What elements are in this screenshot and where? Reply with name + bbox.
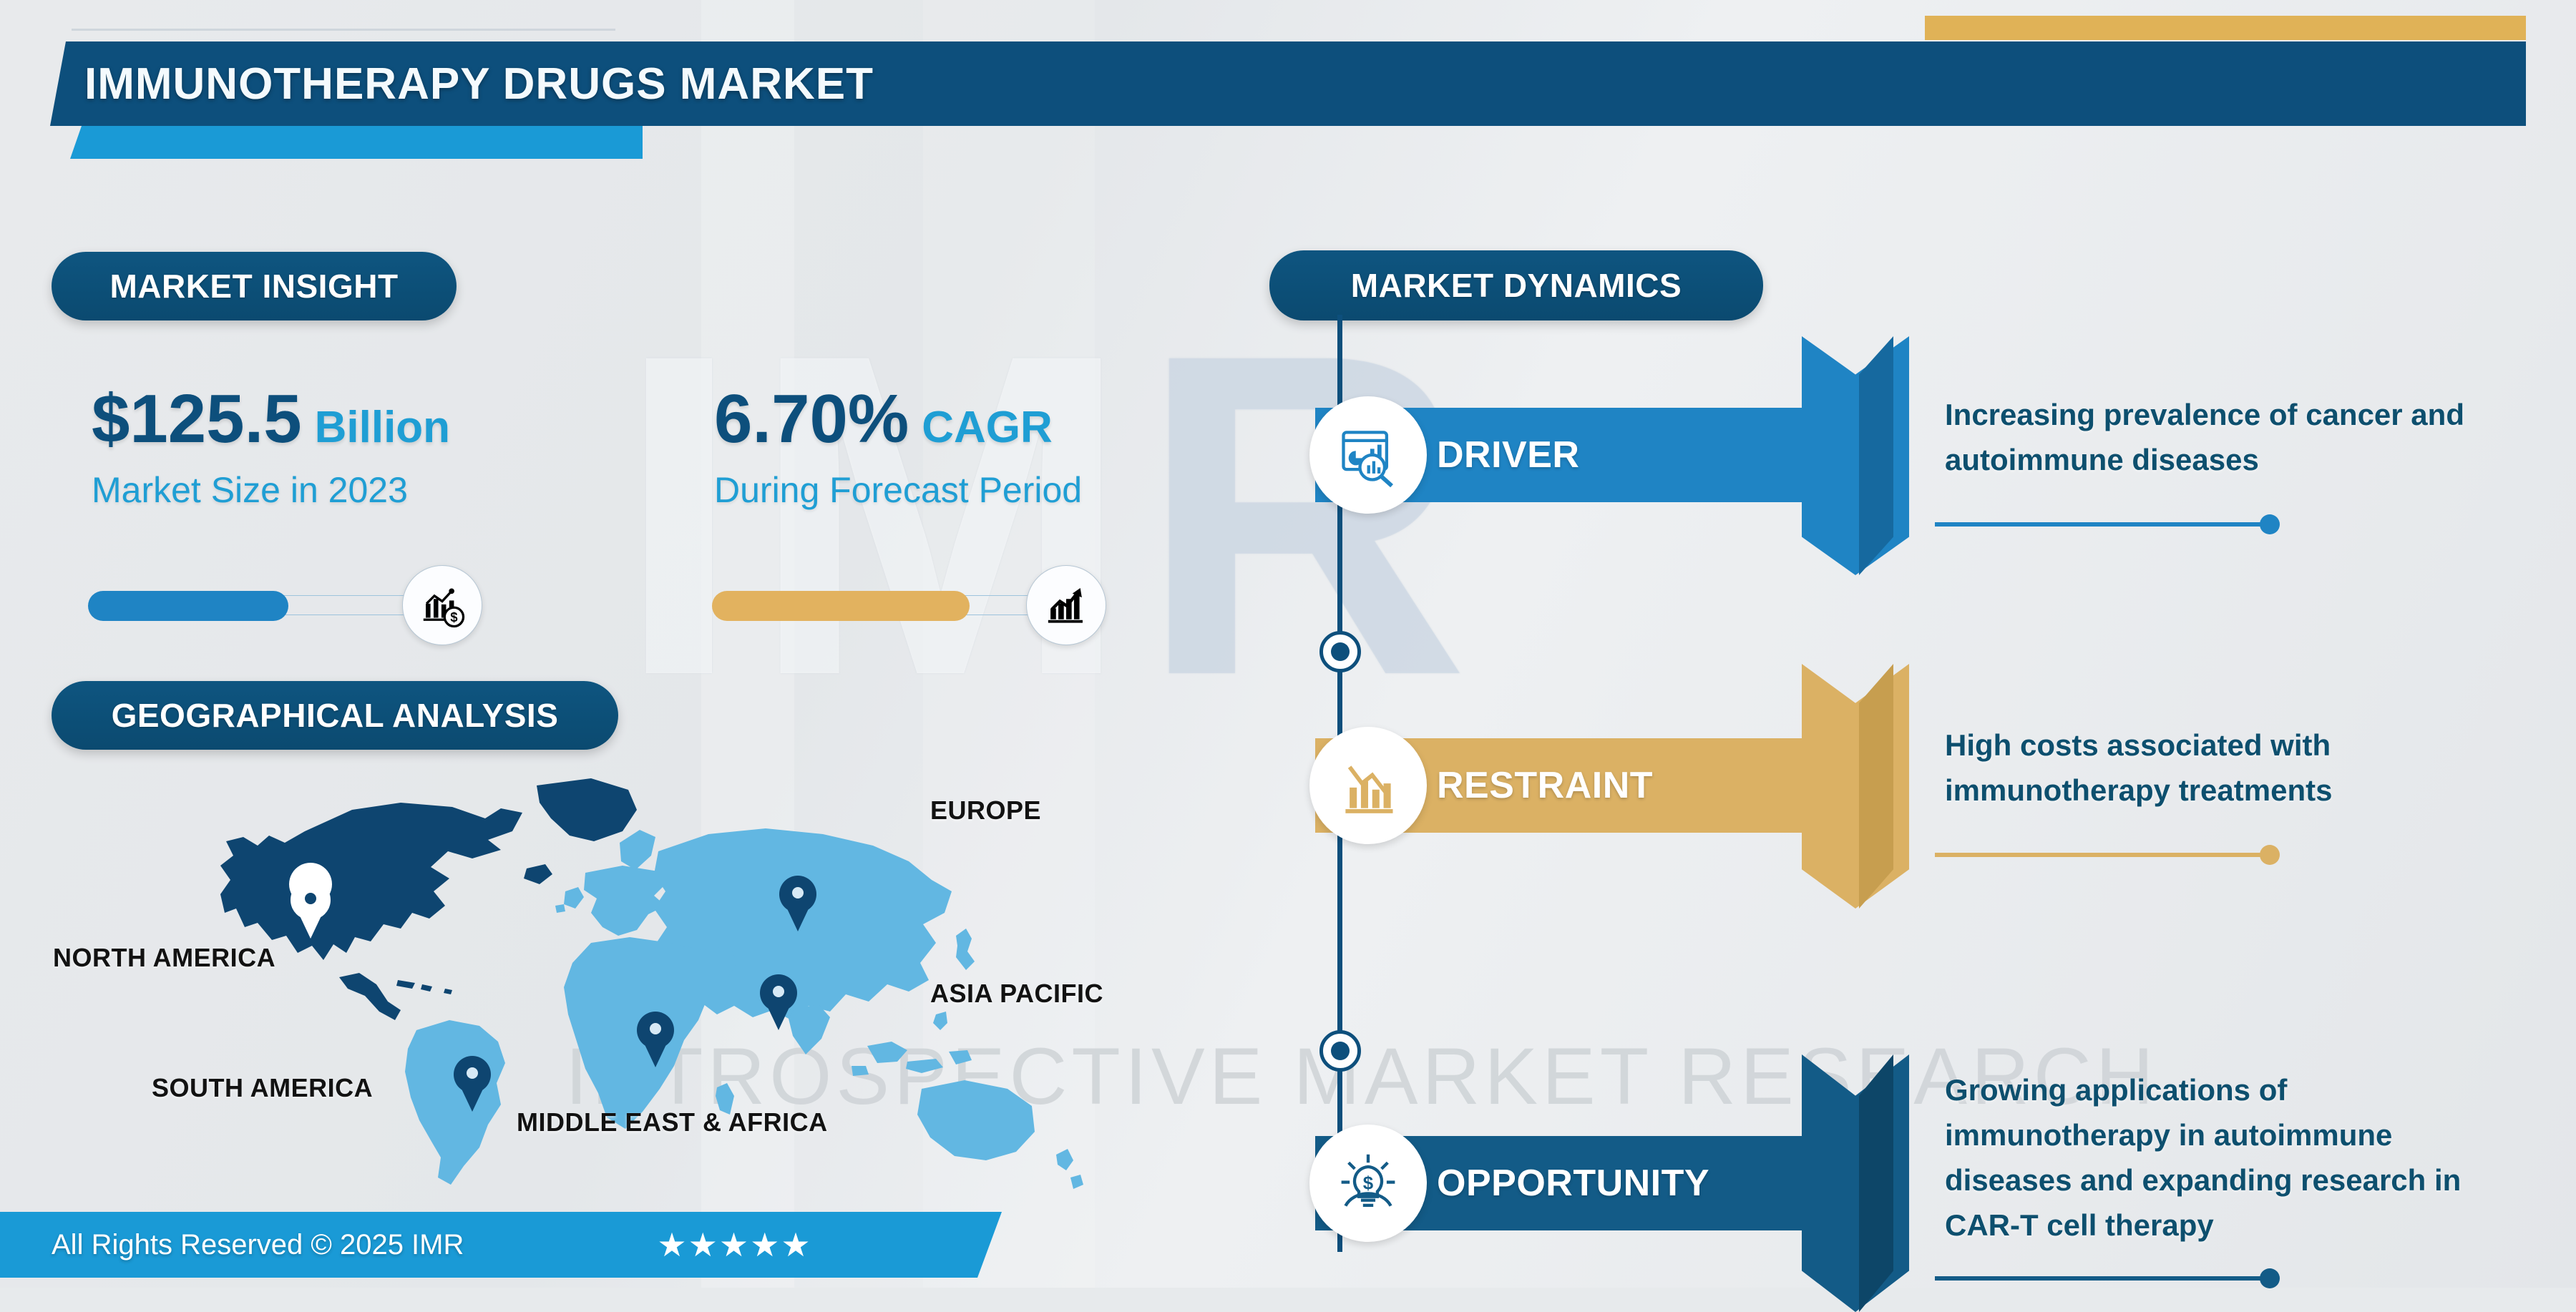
cagr-progress[interactable] [716,565,1106,645]
progress-track [716,595,1052,615]
driver-chevron-shade [1859,336,1893,575]
infographic-canvas: IMR INTROSPECTIVE MARKET RESEARCH IMMUNO… [0,0,2576,1288]
stat-cagr: 6.70%CAGR During Forecast Period [714,385,1082,511]
header-blue-accent [70,126,643,159]
driver-banner[interactable]: DRIVER [1315,408,1802,502]
restraint-underline [1935,853,2278,857]
stat-value-wrap: $125.5Billion [92,385,450,454]
timeline-node [1319,1030,1361,1072]
restraint-description: High costs associated with immunotherapy… [1945,723,2503,813]
progress-fill [712,591,970,621]
region-label-europe: EUROPE [930,795,1041,826]
opportunity-underline [1935,1276,2278,1281]
market-dynamics-timeline: DRIVER Increasing [1269,315,2529,1288]
opportunity-underline-dot [2260,1268,2280,1288]
driver-underline-dot [2260,514,2280,534]
restraint-underline-dot [2260,845,2280,865]
stat-market-size: $125.5Billion Market Size in 2023 [92,385,450,511]
market-insight-heading: MARKET INSIGHT [52,252,457,320]
driver-underline [1935,522,2278,527]
stat-caption: Market Size in 2023 [92,469,450,511]
stat-value: $125.5 [92,381,302,457]
stat-unit: CAGR [922,403,1053,452]
header-gold-accent [1925,16,2526,40]
stat-caption: During Forecast Period [714,469,1082,511]
copyright-text: All Rights Reserved © 2025 IMR [52,1229,464,1261]
opportunity-chevron-shade [1859,1054,1893,1312]
svg-text:$: $ [1363,1174,1374,1194]
driver-description: Increasing prevalence of cancer and auto… [1945,392,2503,482]
report-analysis-icon [1309,396,1427,514]
market-size-progress[interactable]: $ [92,565,482,645]
lightbulb-dollar-icon: $ [1309,1125,1427,1242]
region-label-north-america: NORTH AMERICA [53,943,275,973]
stat-value: 6.70% [714,381,909,457]
opportunity-banner[interactable]: OPPORTUNITY $ [1315,1136,1802,1230]
stat-unit: Billion [315,403,450,452]
progress-track [92,595,428,615]
timeline-node [1319,631,1361,672]
restraint-banner[interactable]: RESTRAINT [1315,738,1802,833]
region-label-middle-east-africa: MIDDLE EAST & AFRICA [517,1107,828,1137]
geographical-analysis-heading: GEOGRAPHICAL ANALYSIS [52,681,618,750]
region-label-south-america: SOUTH AMERICA [152,1073,373,1103]
declining-bar-chart-icon [1309,727,1427,844]
restraint-chevron-shade [1859,664,1893,909]
rating-stars: ★★★★★ [657,1225,811,1264]
growth-arrow-chart-icon [1026,565,1106,645]
svg-text:$: $ [450,610,458,625]
market-dynamics-heading: MARKET DYNAMICS [1269,250,1763,320]
header-thin-rule [72,29,615,31]
region-label-asia-pacific: ASIA PACIFIC [930,979,1103,1009]
page-title: IMMUNOTHERAPY DRUGS MARKET [84,41,874,126]
opportunity-description: Growing applications of immunotherapy in… [1945,1067,2517,1248]
bar-chart-dollar-icon: $ [402,565,482,645]
stat-value-wrap: 6.70%CAGR [714,385,1082,454]
footer-bar: All Rights Reserved © 2025 IMR ★★★★★ [0,1212,1002,1278]
progress-fill [88,591,288,621]
